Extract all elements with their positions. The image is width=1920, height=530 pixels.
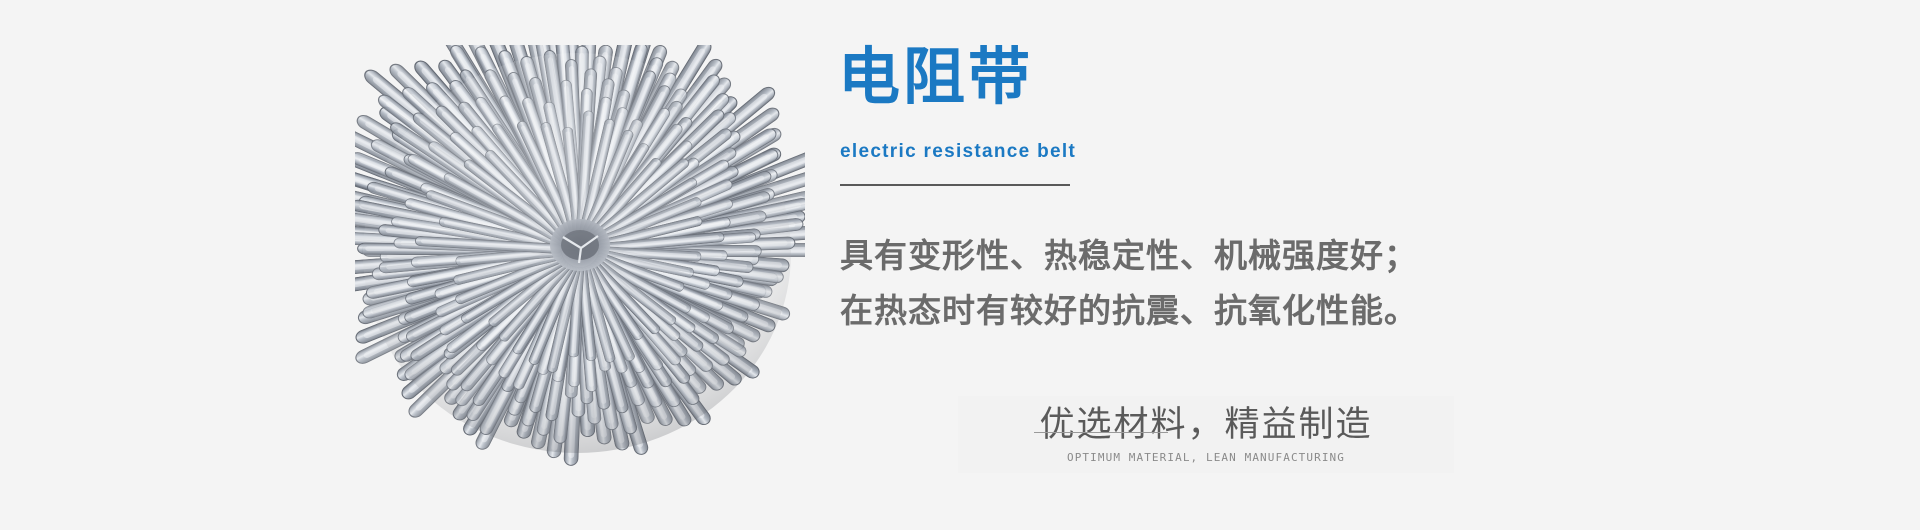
description-line-1: 具有变形性、热稳定性、机械强度好； — [840, 228, 1480, 283]
page-subtitle-en: electric resistance belt — [840, 141, 1076, 163]
slogan-english: OPTIMUM MATERIAL, LEAN MANUFACTURING — [976, 450, 1436, 465]
slogan-chinese: 优选材料，精益制造 — [976, 402, 1436, 448]
product-description: 具有变形性、热稳定性、机械强度好； 在热态时有较好的抗震、抗氧化性能。 — [840, 228, 1480, 338]
product-image — [355, 45, 805, 485]
product-banner: 电阻带 electric resistance belt 具有变形性、热稳定性、… — [0, 0, 1920, 530]
description-line-2: 在热态时有较好的抗震、抗氧化性能。 — [840, 283, 1480, 338]
page-title: 电阻带 — [838, 44, 1033, 112]
slogan-underline — [1034, 432, 1168, 433]
text-column: 电阻带 electric resistance belt 具有变形性、热稳定性、… — [838, 0, 1858, 530]
title-divider — [840, 184, 1070, 186]
slogan-block: 优选材料，精益制造 OPTIMUM MATERIAL, LEAN MANUFAC… — [958, 396, 1454, 473]
